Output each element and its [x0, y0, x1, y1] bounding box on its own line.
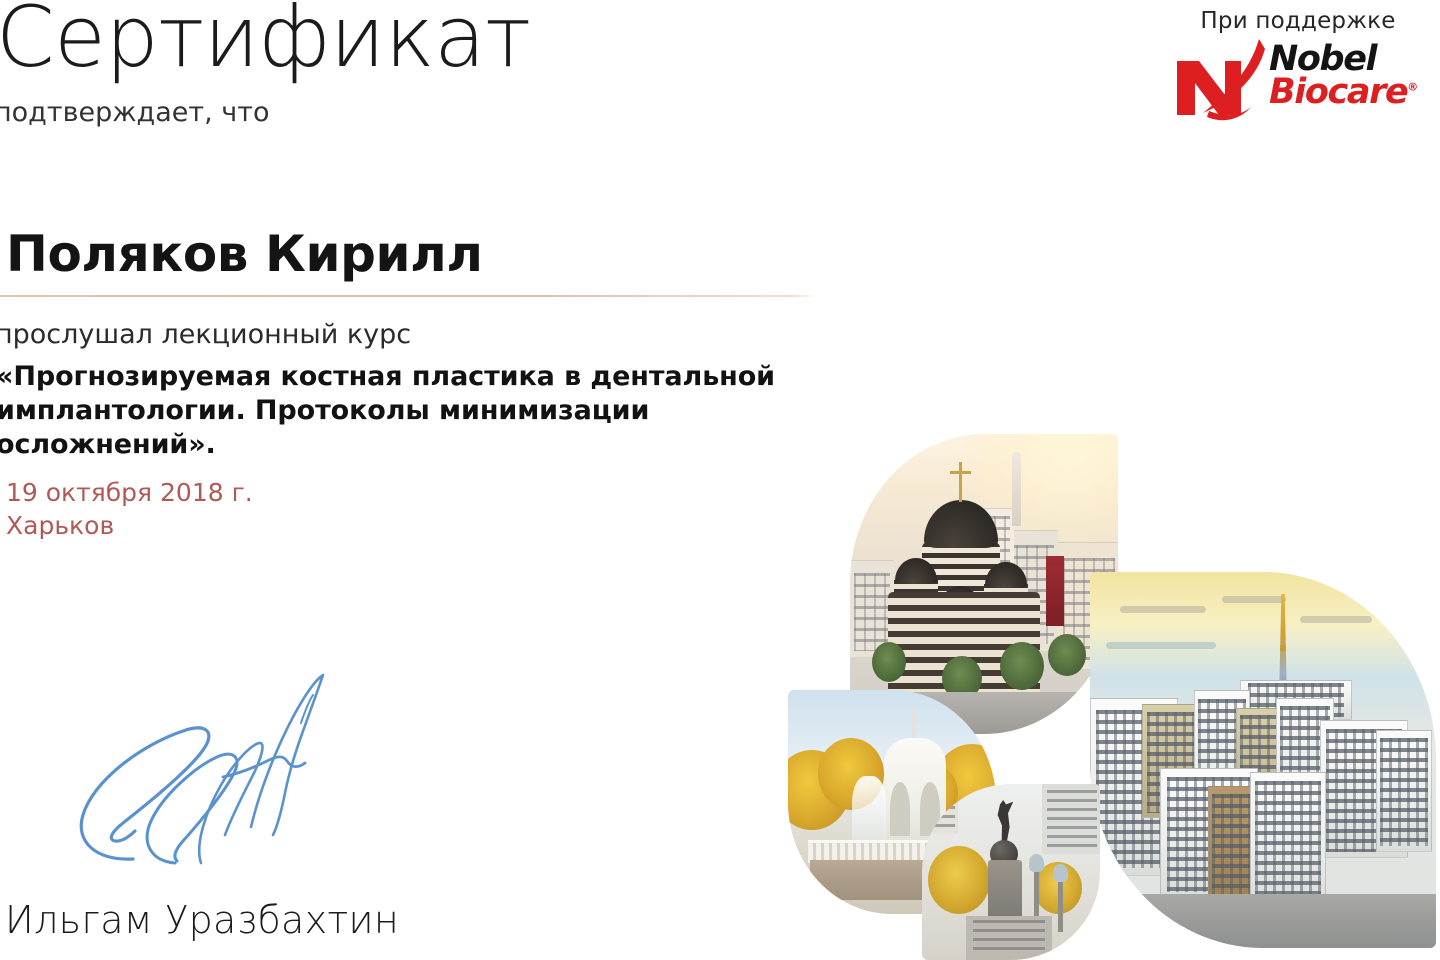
logo-wordmark: Nobel Biocare®	[1269, 43, 1417, 108]
logo-word-biocare: Biocare®	[1269, 76, 1417, 109]
photo-independence-monument	[922, 784, 1100, 960]
signer-name: Ильгам Уразбахтин	[5, 898, 399, 942]
recipient-name: Поляков Кирилл	[6, 225, 483, 283]
course-lead-text: прослушал лекционный курс	[0, 319, 411, 350]
certificate-subtitle: подтверждает, что	[0, 97, 269, 128]
divider-rule	[0, 295, 818, 297]
nobel-n-mark-icon	[1173, 37, 1269, 123]
course-title: «Прогнозируемая костная пластика в дента…	[0, 360, 856, 462]
certificate-page: Сертификат подтверждает, что При поддерж…	[0, 0, 1440, 960]
registered-trademark-icon: ®	[1407, 80, 1417, 93]
sponsor-block: При поддержке Nobel Biocare®	[1164, 8, 1432, 123]
handwritten-signature-icon	[55, 665, 365, 880]
issue-city: Харьков	[6, 509, 253, 542]
certificate-title: Сертификат	[0, 0, 531, 83]
photo-annunciation-cathedral	[850, 434, 1118, 734]
issue-date: 19 октября 2018 г.	[6, 476, 253, 509]
kharkiv-photo-collage	[788, 432, 1436, 960]
signature-image	[55, 665, 365, 880]
date-place-block: 19 октября 2018 г. Харьков	[6, 476, 253, 542]
nobel-biocare-logo: Nobel Biocare®	[1173, 37, 1423, 123]
logo-word-biocare-text: Biocare	[1269, 72, 1407, 112]
photo-derzhprom-building	[1090, 572, 1436, 948]
sponsor-label: При поддержке	[1164, 8, 1432, 34]
